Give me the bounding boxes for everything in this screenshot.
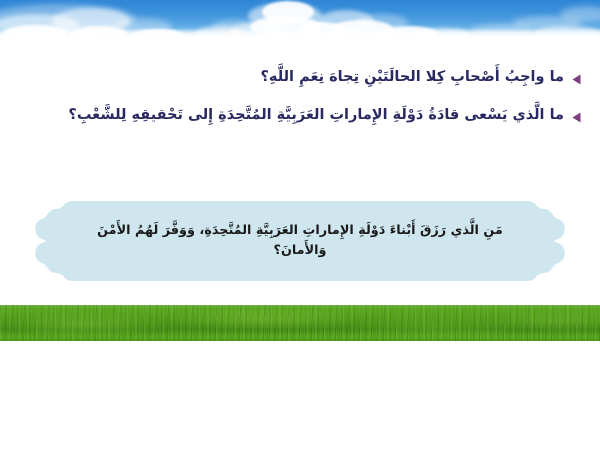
callout-text: مَنِ الَّذي رَزَقَ أَبْناءَ دَوْلَةِ الإ… (76, 221, 524, 262)
list-item: ما واجِبُ أَصْحابِ كِلا الحالَتَيْنِ تِج… (0, 66, 600, 90)
question-text: ما واجِبُ أَصْحابِ كِلا الحالَتَيْنِ تِج… (20, 66, 570, 88)
callout-text-wrap: مَنِ الَّذي رَزَقَ أَبْناءَ دَوْلَةِ الإ… (30, 197, 570, 285)
sky-banner (0, 0, 600, 37)
slide-canvas: ما واجِبُ أَصْحابِ كِلا الحالَتَيْنِ تِج… (0, 0, 600, 464)
grass-banner (0, 305, 600, 341)
grass-top-highlight (0, 305, 600, 309)
question-text: ما الَّذي يَسْعى قادَةُ دَوْلَةِ الإِمار… (20, 104, 570, 126)
triangle-bullet-icon (570, 68, 582, 90)
grass-blade-texture (0, 305, 600, 341)
question-list: ما واجِبُ أَصْحابِ كِلا الحالَتَيْنِ تِج… (0, 66, 600, 142)
list-item: ما الَّذي يَسْعى قادَةُ دَوْلَةِ الإِمار… (0, 104, 600, 128)
triangle-bullet-icon (570, 106, 582, 128)
callout-box: مَنِ الَّذي رَزَقَ أَبْناءَ دَوْلَةِ الإ… (30, 197, 570, 285)
sky-horizon-fade (0, 28, 600, 37)
